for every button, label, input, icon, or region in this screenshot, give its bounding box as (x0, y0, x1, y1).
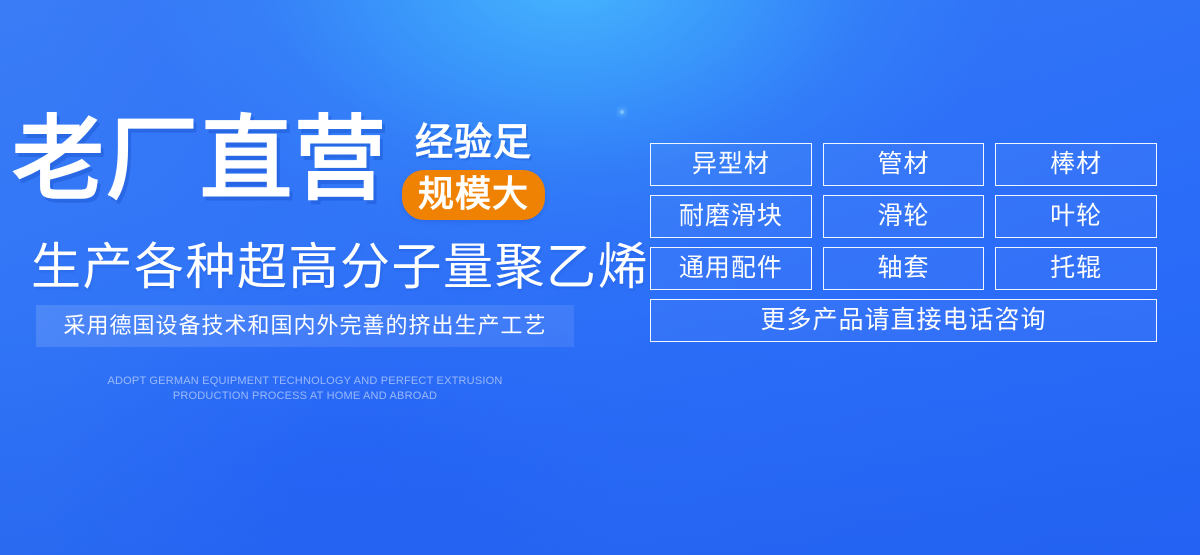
product-cell-label: 异型材 (692, 151, 770, 178)
product-cell-label: 棒材 (1050, 151, 1102, 178)
product-grid-row: 耐磨滑块 滑轮 叶轮 (650, 195, 1157, 238)
more-products-contact-button[interactable]: 更多产品请直接电话咨询 (650, 299, 1157, 342)
product-cell-tuogun[interactable]: 托辊 (995, 247, 1157, 290)
headline-subtitle: 生产各种超高分子量聚乙烯 (31, 238, 649, 296)
tagline-text: 采用德国设备技术和国内外完善的挤出生产工艺 (63, 314, 546, 338)
english-subtitle-line-2: PRODUCTION PROCESS AT HOME AND ABROAD (36, 389, 574, 404)
product-cell-yixingcai[interactable]: 异型材 (650, 143, 812, 186)
product-grid-row: 通用配件 轴套 托辊 (650, 247, 1157, 290)
product-category-grid: 异型材 管材 棒材 耐磨滑块 滑轮 叶轮 通用配件 (650, 143, 1157, 342)
headline-row: 老厂直营 经验足 规模大 (12, 112, 545, 220)
product-cell-label: 通用配件 (679, 255, 783, 282)
product-cell-bangcai[interactable]: 棒材 (995, 143, 1157, 186)
product-cell-guancai[interactable]: 管材 (823, 143, 985, 186)
badge-scale-pill: 规模大 (402, 170, 545, 220)
product-cell-label: 管材 (878, 151, 930, 178)
english-subtitle: ADOPT GERMAN EQUIPMENT TECHNOLOGY AND PE… (36, 374, 574, 404)
product-cell-label: 耐磨滑块 (679, 203, 783, 230)
product-cell-label: 轴套 (878, 255, 930, 282)
product-cell-tongyongpeijian[interactable]: 通用配件 (650, 247, 812, 290)
headline-main-title: 老厂直营 (12, 112, 388, 208)
sparkle-icon (620, 110, 624, 114)
product-grid-row: 异型材 管材 棒材 (650, 143, 1157, 186)
product-cell-label: 滑轮 (878, 203, 930, 230)
promo-banner: 老厂直营 经验足 规模大 生产各种超高分子量聚乙烯 采用德国设备技术和国内外完善… (0, 0, 1200, 555)
banner-left-content: 老厂直营 经验足 规模大 生产各种超高分子量聚乙烯 采用德国设备技术和国内外完善… (0, 0, 610, 555)
badge-experience-label: 经验足 (415, 122, 532, 164)
headline-badge-stack: 经验足 规模大 (402, 122, 545, 220)
product-cell-hualun[interactable]: 滑轮 (823, 195, 985, 238)
product-cell-naimohuakuai[interactable]: 耐磨滑块 (650, 195, 812, 238)
tagline-bar: 采用德国设备技术和国内外完善的挤出生产工艺 (36, 305, 574, 347)
product-cell-yelun[interactable]: 叶轮 (995, 195, 1157, 238)
product-cell-label: 托辊 (1050, 255, 1102, 282)
product-grid-row: 更多产品请直接电话咨询 (650, 299, 1157, 342)
more-products-contact-label: 更多产品请直接电话咨询 (760, 307, 1046, 334)
product-cell-label: 叶轮 (1050, 203, 1102, 230)
english-subtitle-line-1: ADOPT GERMAN EQUIPMENT TECHNOLOGY AND PE… (36, 374, 574, 389)
product-cell-zhoutao[interactable]: 轴套 (823, 247, 985, 290)
